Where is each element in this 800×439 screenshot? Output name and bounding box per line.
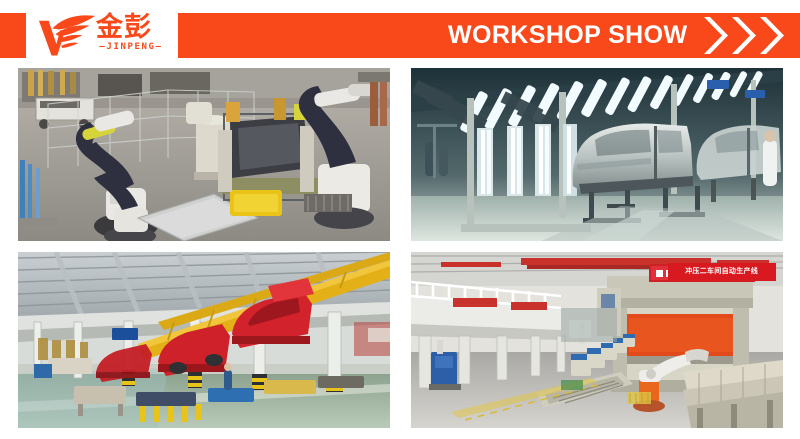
page-header: 金彭 —JINPENG— WORKSHOP SHOW (0, 0, 800, 68)
photo-stamping-press-automated-line: 冲压二车间自动生产线 (411, 252, 783, 428)
jinpeng-wing-v-logo-icon (38, 14, 96, 56)
company-logo: 金彭 —JINPENG— (38, 12, 172, 60)
photo-overhead-conveyor-assembly-line (18, 252, 390, 428)
workshop-show-page: 金彭 —JINPENG— WORKSHOP SHOW (0, 0, 800, 439)
stamping-line-banner-caption: 冲压二车间自动生产线 (668, 263, 776, 281)
header-left-orange-block (0, 13, 26, 58)
workshop-show-banner: WORKSHOP SHOW (178, 13, 800, 58)
logo-latin-name: —JINPENG— (90, 42, 172, 52)
photo-robotic-welding-line (18, 68, 390, 241)
logo-chinese-name: 金彭 (96, 13, 152, 43)
workshop-photo-gallery: 冲压二车间自动生产线 (18, 68, 783, 428)
photo-paint-inspection-booth (411, 68, 783, 241)
chevron-right-icon-group (702, 13, 794, 58)
page-title: WORKSHOP SHOW (448, 13, 687, 58)
